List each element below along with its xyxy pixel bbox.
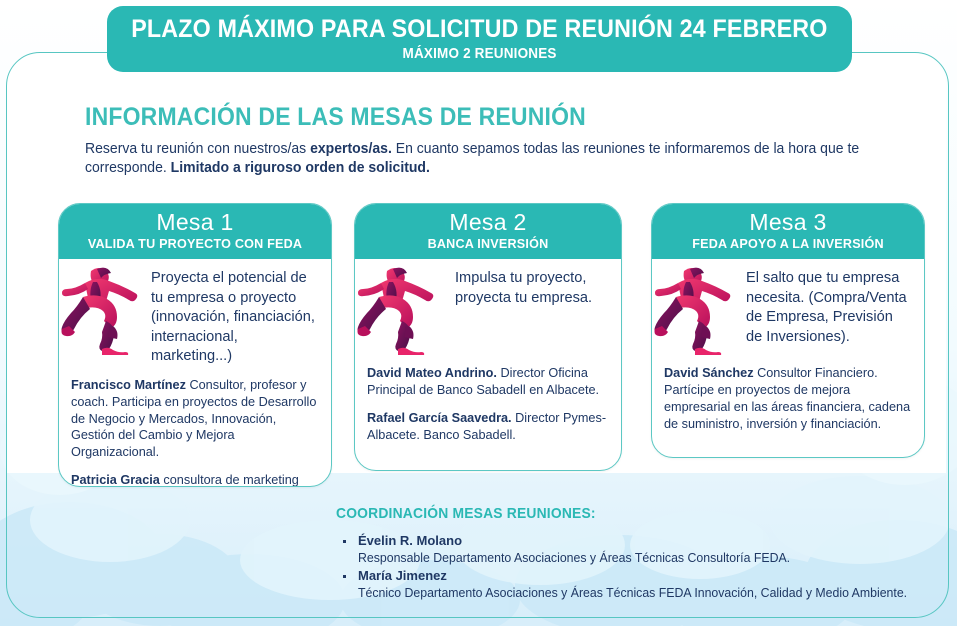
runner-figure-icon — [654, 263, 740, 355]
mesa-card-2-body: Impulsa tu proyecto, proyecta tu empresa… — [355, 259, 621, 453]
mesa-card-2-title: Mesa 2 — [359, 210, 617, 235]
mesa-card-1[interactable]: Mesa 1 VALIDA TU PROYECTO CON FEDA — [58, 203, 332, 487]
runner-figure-icon — [357, 263, 443, 355]
mesa-card-3-title: Mesa 3 — [656, 210, 920, 235]
mesa-card-1-bio-1: Francisco Martínez Consultor, profesor y… — [71, 377, 319, 461]
list-item: María Jimenez Técnico Departamento Asoci… — [336, 568, 946, 601]
mesa-card-3-body: El salto que tu empresa necesita. (Compr… — [652, 259, 924, 442]
mesa-card-2-bio-2-name: Rafael García Saavedra. — [367, 411, 512, 425]
mesa-card-2-bio-1: David Mateo Andrino. Director Oficina Pr… — [367, 365, 609, 399]
mesa-card-3-header: Mesa 3 FEDA APOYO A LA INVERSIÓN — [652, 204, 924, 259]
mesa-card-3-bio-1: David Sánchez Consultor Financiero. Part… — [664, 365, 912, 432]
mesa-card-1-header: Mesa 1 VALIDA TU PROYECTO CON FEDA — [59, 204, 331, 259]
list-item: Évelin R. Molano Responsable Departament… — [336, 533, 946, 566]
mesa-card-1-body: Proyecta el potencial de tu empresa o pr… — [59, 259, 331, 487]
mesa-card-2-header: Mesa 2 BANCA INVERSIÓN — [355, 204, 621, 259]
coordination-list: Évelin R. Molano Responsable Departament… — [336, 533, 946, 602]
bullet-icon — [343, 575, 346, 578]
poster-canvas: PLAZO MÁXIMO PARA SOLICITUD DE REUNIÓN 2… — [0, 0, 957, 626]
coordinator-role: Responsable Departamento Asociaciones y … — [358, 550, 928, 567]
bullet-icon — [343, 540, 346, 543]
coordination-title: COORDINACIÓN MESAS REUNIONES: — [336, 506, 916, 522]
runner-figure-icon — [61, 263, 147, 355]
mesa-card-2-bio-1-name: David Mateo Andrino. — [367, 366, 497, 380]
mesa-card-1-title: Mesa 1 — [63, 210, 327, 235]
mesa-card-2-subtitle: BANCA INVERSIÓN — [359, 237, 617, 251]
mesa-card-1-bio-2-name: Patricia Gracia — [71, 473, 160, 487]
mesa-card-2[interactable]: Mesa 2 BANCA INVERSIÓN Impulsa — [354, 203, 622, 471]
mesa-card-1-bio-1-name: Francisco Martínez — [71, 378, 186, 392]
coordinator-role: Técnico Departamento Asociaciones y Área… — [358, 585, 928, 602]
coordination-section: COORDINACIÓN MESAS REUNIONES: Évelin R. … — [336, 506, 946, 604]
mesa-card-2-bio-2: Rafael García Saavedra. Director Pymes- … — [367, 410, 609, 444]
coordinator-name: María Jimenez — [358, 568, 946, 585]
coordinator-name: Évelin R. Molano — [358, 533, 946, 550]
mesa-card-3-bio-1-name: David Sánchez — [664, 366, 754, 380]
mesa-card-1-bio-2: Patricia Gracia consultora de marketing … — [71, 472, 319, 487]
mesa-card-3-subtitle: FEDA APOYO A LA INVERSIÓN — [656, 237, 920, 251]
mesa-card-1-subtitle: VALIDA TU PROYECTO CON FEDA — [63, 237, 327, 251]
mesa-card-3[interactable]: Mesa 3 FEDA APOYO A LA INVERSIÓN — [651, 203, 925, 458]
